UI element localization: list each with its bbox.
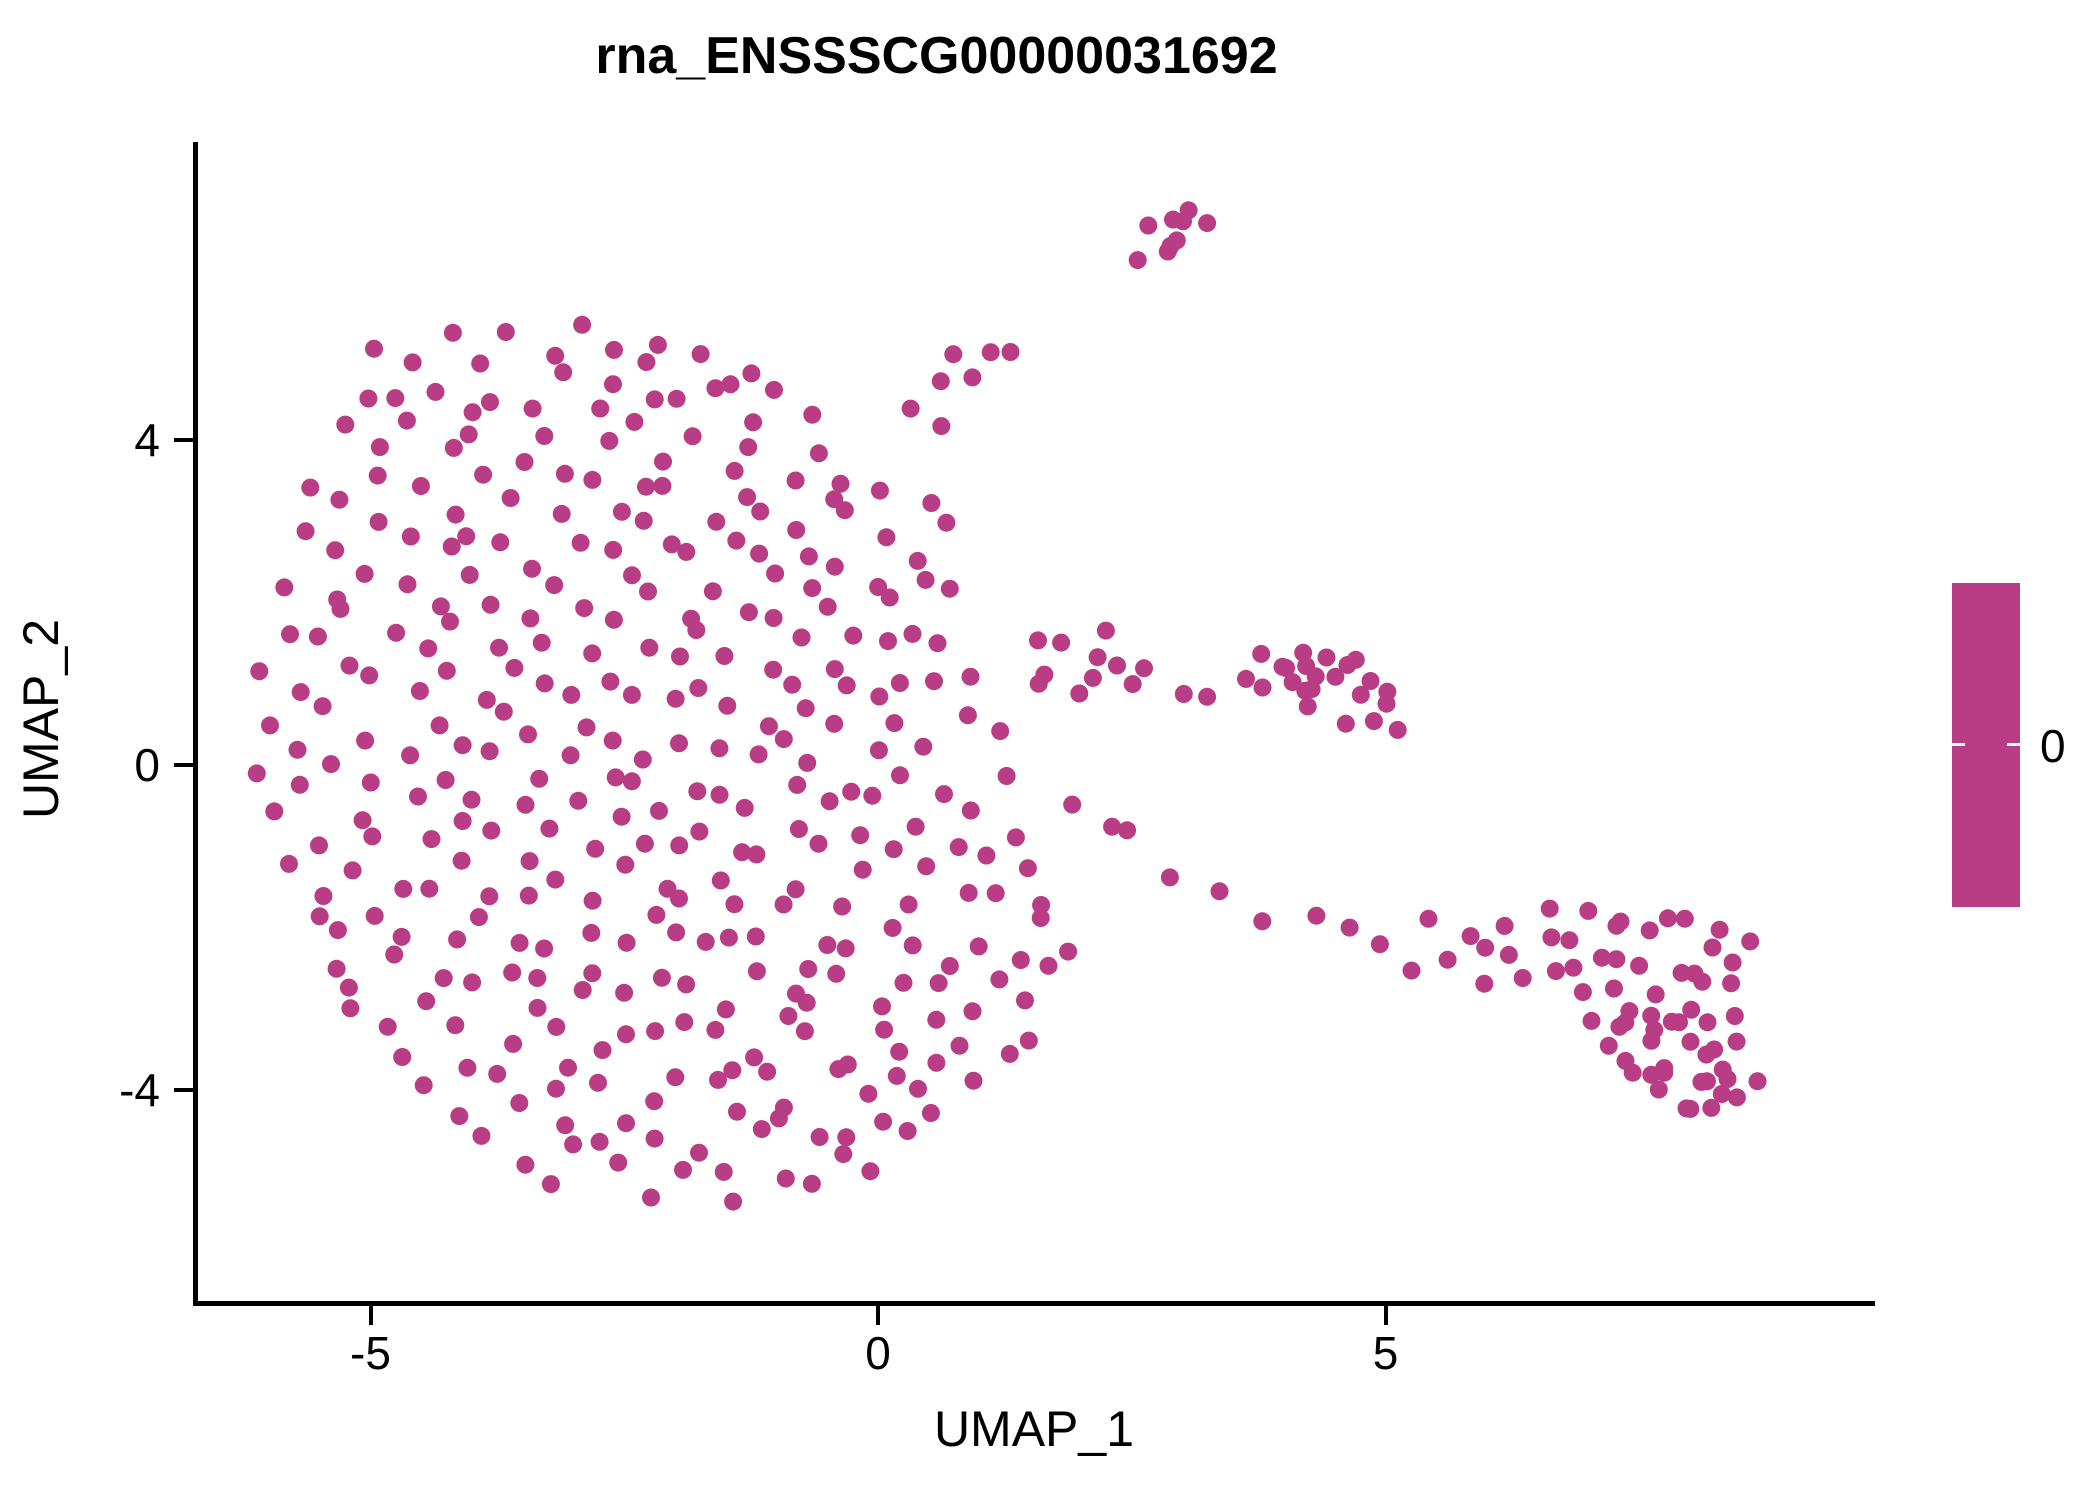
scatter-point (457, 527, 475, 545)
scatter-point (963, 368, 981, 386)
scatter-point (884, 919, 902, 937)
scatter-point (977, 847, 995, 865)
scatter-point (520, 887, 538, 905)
scatter-point (1542, 928, 1560, 946)
scatter-point (1560, 931, 1578, 949)
scatter-point (363, 827, 381, 845)
scatter-point (962, 802, 980, 820)
scatter-point (726, 462, 744, 480)
scatter-point (1624, 1064, 1642, 1082)
scatter-point (1659, 909, 1677, 927)
scatter-point (879, 632, 897, 650)
scatter-point (341, 999, 359, 1017)
scatter-point (1420, 910, 1438, 928)
scatter-point (1699, 1013, 1717, 1031)
scatter-point (706, 1021, 724, 1039)
scatter-point (1389, 721, 1407, 739)
scatter-point (712, 872, 730, 890)
scatter-point (1642, 1066, 1660, 1084)
scatter-point (623, 566, 641, 584)
scatter-point (379, 1018, 397, 1036)
scatter-point (777, 1170, 795, 1188)
scatter-point (937, 514, 955, 532)
scatter-point (859, 1085, 877, 1103)
scatter-point (646, 1022, 664, 1040)
scatter-point (1705, 1041, 1723, 1059)
scatter-point (556, 1116, 574, 1134)
scatter-point (904, 625, 922, 643)
scatter-point (1617, 1052, 1635, 1070)
scatter-point (1607, 950, 1625, 968)
scatter-point (825, 715, 843, 733)
scatter-point (871, 482, 889, 500)
scatter-point (1645, 1021, 1663, 1039)
scatter-point (646, 390, 664, 408)
scatter-point (982, 343, 1000, 361)
scatter-point (583, 471, 601, 489)
scatter-point (718, 697, 736, 715)
scatter-point (248, 764, 266, 782)
scatter-point (1702, 1099, 1720, 1117)
scatter-point (547, 1080, 565, 1098)
x-tick-mark (369, 1306, 373, 1325)
scatter-point (1277, 659, 1295, 677)
scatter-point (965, 1072, 983, 1090)
scatter-point (488, 1065, 506, 1083)
scatter-point (1641, 921, 1659, 939)
scatter-point (803, 1175, 821, 1193)
scatter-point (1741, 932, 1759, 950)
scatter-point (387, 624, 405, 642)
scatter-point (554, 363, 572, 381)
scatter-point (330, 491, 348, 509)
scatter-point (575, 599, 593, 617)
scatter-point (310, 836, 328, 854)
scatter-point (819, 598, 837, 616)
scatter-point (1579, 902, 1597, 920)
scatter-point (1019, 859, 1037, 877)
scatter-point (929, 634, 947, 652)
scatter-point (875, 1021, 893, 1039)
scatter-point (825, 490, 843, 508)
scatter-point (1663, 1013, 1681, 1031)
scatter-series (248, 201, 1767, 1210)
scatter-point (715, 1163, 733, 1181)
y-tick-label: -4 (119, 1067, 160, 1113)
y-tick-mark (174, 438, 193, 442)
scatter-point (366, 907, 384, 925)
scatter-point (851, 826, 869, 844)
scatter-point (572, 534, 590, 552)
scatter-point (639, 583, 657, 601)
scatter-point (666, 1068, 684, 1086)
scatter-point (1362, 672, 1380, 690)
scatter-point (790, 820, 808, 838)
scatter-point (1084, 669, 1102, 687)
scatter-point (736, 799, 754, 817)
scatter-point (1682, 1001, 1700, 1019)
scatter-point (1237, 670, 1255, 688)
scatter-point (356, 732, 374, 750)
scatter-point (640, 639, 658, 657)
scatter-point (589, 1074, 607, 1092)
scatter-point (1496, 917, 1514, 935)
scatter-point (711, 786, 729, 804)
scatter-point (463, 973, 481, 991)
scatter-point (861, 1162, 879, 1180)
scatter-point (797, 699, 815, 717)
y-tick-label: 0 (134, 742, 160, 788)
scatter-point (707, 513, 725, 531)
scatter-point (987, 884, 1005, 902)
x-axis-spine (193, 1301, 1875, 1306)
scatter-point (747, 845, 765, 863)
scatter-point (250, 662, 268, 680)
scatter-point (1541, 900, 1559, 918)
scatter-point (535, 427, 553, 445)
scatter-point (478, 691, 496, 709)
scatter-point (605, 341, 623, 359)
scatter-point (917, 857, 935, 875)
scatter-point (341, 657, 359, 675)
scatter-point (932, 417, 950, 435)
scatter-point (690, 1144, 708, 1162)
scatter-point (336, 416, 354, 434)
scatter-point (1673, 964, 1691, 982)
scatter-point (1650, 1081, 1668, 1099)
scatter-point (564, 1135, 582, 1153)
scatter-point (891, 766, 909, 784)
scatter-point (885, 840, 903, 858)
scatter-point (863, 787, 881, 805)
scatter-point (682, 610, 700, 628)
scatter-point (890, 1043, 908, 1061)
scatter-point (854, 861, 872, 879)
scatter-point (511, 934, 529, 952)
scatter-point (607, 768, 625, 786)
scatter-point (1670, 1013, 1688, 1031)
scatter-point (360, 666, 378, 684)
scatter-point (261, 716, 279, 734)
scatter-point (1500, 946, 1518, 964)
scatter-point (869, 578, 887, 596)
scatter-point (504, 1035, 522, 1053)
scatter-point (460, 425, 478, 443)
scatter-point (1697, 1046, 1715, 1064)
scatter-point (873, 997, 891, 1015)
scatter-point (281, 625, 299, 643)
scatter-point (674, 1161, 692, 1179)
scatter-point (394, 880, 412, 898)
scatter-point (1040, 957, 1058, 975)
scatter-point (663, 535, 681, 553)
scatter-point (371, 438, 389, 456)
scatter-point (891, 674, 909, 692)
scatter-point (1728, 1033, 1746, 1051)
scatter-point (722, 375, 740, 393)
scatter-point (970, 937, 988, 955)
scatter-point (562, 686, 580, 704)
scatter-point (521, 609, 539, 627)
scatter-point (637, 478, 655, 496)
scatter-point (386, 389, 404, 407)
scatter-point (803, 406, 821, 424)
scatter-point (1692, 1073, 1710, 1091)
scatter-point (764, 661, 782, 679)
scatter-point (838, 676, 856, 694)
scatter-point (877, 528, 895, 546)
scatter-point (328, 591, 346, 609)
scatter-point (837, 939, 855, 957)
scatter-point (446, 1016, 464, 1034)
scatter-point (1678, 1099, 1696, 1117)
scatter-point (482, 596, 500, 614)
scatter-point (950, 838, 968, 856)
scatter-point (779, 1007, 797, 1025)
scatter-point (810, 444, 828, 462)
x-tick-label: 0 (818, 1330, 938, 1376)
scatter-point (1020, 1032, 1038, 1050)
scatter-point (1164, 211, 1182, 229)
scatter-point (370, 513, 388, 531)
y-axis-spine (193, 142, 198, 1305)
scatter-point (533, 634, 551, 652)
scatter-point (516, 453, 534, 471)
scatter-point (922, 1104, 940, 1122)
scatter-point (1642, 1007, 1660, 1025)
colorbar-tick-left (1952, 743, 1965, 746)
scatter-point (1012, 951, 1030, 969)
scatter-point (1139, 217, 1157, 235)
scatter-point (998, 767, 1016, 785)
scatter-point (435, 969, 453, 987)
scatter-point (505, 659, 523, 677)
scatter-point (1711, 921, 1729, 939)
scatter-point (409, 788, 427, 806)
scatter-point (834, 1145, 852, 1163)
scatter-point (482, 822, 500, 840)
scatter-point (733, 843, 751, 861)
scatter-point (818, 936, 836, 954)
scatter-point (542, 1175, 560, 1193)
scatter-point (1297, 657, 1315, 675)
scatter-point (668, 390, 686, 408)
colorbar-legend: 0 (1952, 583, 2100, 913)
scatter-point (540, 820, 558, 838)
scatter-point (559, 1059, 577, 1077)
scatter-point (646, 1130, 664, 1148)
scatter-point (803, 579, 821, 597)
scatter-point (1564, 959, 1582, 977)
scatter-point (962, 668, 980, 686)
scatter-point-layer (0, 0, 2100, 1500)
scatter-point (1749, 1072, 1767, 1090)
scatter-point (291, 776, 309, 794)
scatter-point (289, 741, 307, 759)
scatter-point (990, 970, 1008, 988)
scatter-point (1341, 919, 1359, 937)
scatter-point (941, 957, 959, 975)
scatter-point (1294, 644, 1312, 662)
scatter-point (311, 907, 329, 925)
scatter-point (770, 1109, 788, 1127)
scatter-point (829, 1060, 847, 1078)
scatter-point (584, 892, 602, 910)
scatter-point (964, 1002, 982, 1020)
scatter-point (1097, 622, 1115, 640)
scatter-point (798, 994, 816, 1012)
scatter-point (927, 1011, 945, 1029)
scatter-point (450, 1107, 468, 1125)
x-tick-label: 5 (1326, 1330, 1446, 1376)
scatter-point (1016, 991, 1034, 1009)
scatter-point (529, 999, 547, 1017)
scatter-point (798, 754, 816, 772)
scatter-point (787, 985, 805, 1003)
scatter-point (909, 552, 927, 570)
scatter-point (811, 1128, 829, 1146)
scatter-point (605, 611, 623, 629)
scatter-point (297, 522, 315, 540)
scatter-point (329, 921, 347, 939)
scatter-point (427, 383, 445, 401)
scatter-point (448, 930, 466, 948)
scatter-point (546, 871, 564, 889)
scatter-point (796, 1022, 814, 1040)
scatter-point (481, 393, 499, 411)
scatter-point (1198, 688, 1216, 706)
scatter-point (1439, 951, 1457, 969)
scatter-point (359, 390, 377, 408)
scatter-point (464, 403, 482, 421)
scatter-point (556, 465, 574, 483)
scatter-point (601, 673, 619, 691)
scatter-point (1347, 651, 1365, 669)
scatter-point (870, 741, 888, 759)
scatter-point (582, 924, 600, 942)
scatter-point (758, 1063, 776, 1081)
scatter-point (480, 887, 498, 905)
x-tick-mark (876, 1306, 880, 1325)
scatter-point (1610, 1018, 1628, 1036)
scatter-point (535, 940, 553, 958)
scatter-point (517, 796, 535, 814)
scatter-point (745, 1048, 763, 1066)
scatter-point (1630, 957, 1648, 975)
scatter-point (1211, 882, 1229, 900)
scatter-point (623, 772, 641, 790)
scatter-point (1124, 675, 1142, 693)
scatter-point (684, 427, 702, 445)
scatter-point (885, 714, 903, 732)
scatter-point (775, 1099, 793, 1117)
scatter-point (1600, 1037, 1618, 1055)
scatter-point (1032, 909, 1050, 927)
scatter-point (562, 746, 580, 764)
scatter-point (917, 571, 935, 589)
scatter-point (521, 852, 539, 870)
scatter-point (826, 660, 844, 678)
scatter-point (574, 981, 592, 999)
scatter-point (753, 1120, 771, 1138)
scatter-point (765, 609, 783, 627)
scatter-point (1726, 1007, 1744, 1025)
scatter-point (788, 776, 806, 794)
scatter-point (1108, 657, 1126, 675)
scatter-point (677, 975, 695, 993)
scatter-point (895, 974, 913, 992)
scatter-point (530, 770, 548, 788)
scatter-point (458, 1059, 476, 1077)
scatter-point (904, 936, 922, 954)
scatter-point (1337, 715, 1355, 733)
scatter-point (615, 984, 633, 1002)
scatter-point (1547, 962, 1565, 980)
scatter-point (750, 745, 768, 763)
scatter-point (690, 823, 708, 841)
scatter-point (447, 506, 465, 524)
scatter-point (495, 703, 513, 721)
scatter-point (842, 783, 860, 801)
scatter-point (909, 1080, 927, 1098)
scatter-point (616, 856, 634, 874)
scatter-point (438, 662, 456, 680)
x-axis-label: UMAP_1 (193, 1400, 1875, 1458)
scatter-point (292, 683, 310, 701)
scatter-point (1326, 668, 1344, 686)
scatter-point (902, 400, 920, 418)
scatter-point (490, 639, 508, 657)
scatter-point (401, 746, 419, 764)
scatter-point (925, 672, 943, 690)
scatter-point (420, 880, 438, 898)
scatter-point (463, 791, 481, 809)
scatter-point (951, 1037, 969, 1055)
colorbar-tick-right (2007, 743, 2020, 746)
x-tick-mark (1384, 1306, 1388, 1325)
scatter-point (385, 946, 403, 964)
scatter-point (1253, 912, 1271, 930)
scatter-point (1724, 954, 1742, 972)
scatter-point (636, 835, 654, 853)
scatter-point (322, 755, 340, 773)
scatter-point (399, 575, 417, 593)
scatter-point (1719, 1070, 1737, 1088)
scatter-point (1198, 214, 1216, 232)
scatter-point (653, 969, 671, 987)
scatter-point (747, 928, 765, 946)
scatter-point (888, 1067, 906, 1085)
scatter-point (837, 1128, 855, 1146)
scatter-point (265, 802, 283, 820)
scatter-point (604, 541, 622, 559)
scatter-point (1162, 237, 1180, 255)
scatter-point (787, 880, 805, 898)
scatter-point (930, 974, 948, 992)
scatter-point (470, 908, 488, 926)
scatter-point (1030, 675, 1048, 693)
scatter-point (783, 676, 801, 694)
scatter-point (739, 438, 757, 456)
scatter-point (1129, 251, 1147, 269)
scatter-point (1002, 343, 1020, 361)
scatter-point (1371, 935, 1389, 953)
scatter-point (1059, 943, 1077, 961)
scatter-point (354, 811, 372, 829)
scatter-point (654, 453, 672, 471)
scatter-point (301, 479, 319, 497)
scatter-point (618, 934, 636, 952)
